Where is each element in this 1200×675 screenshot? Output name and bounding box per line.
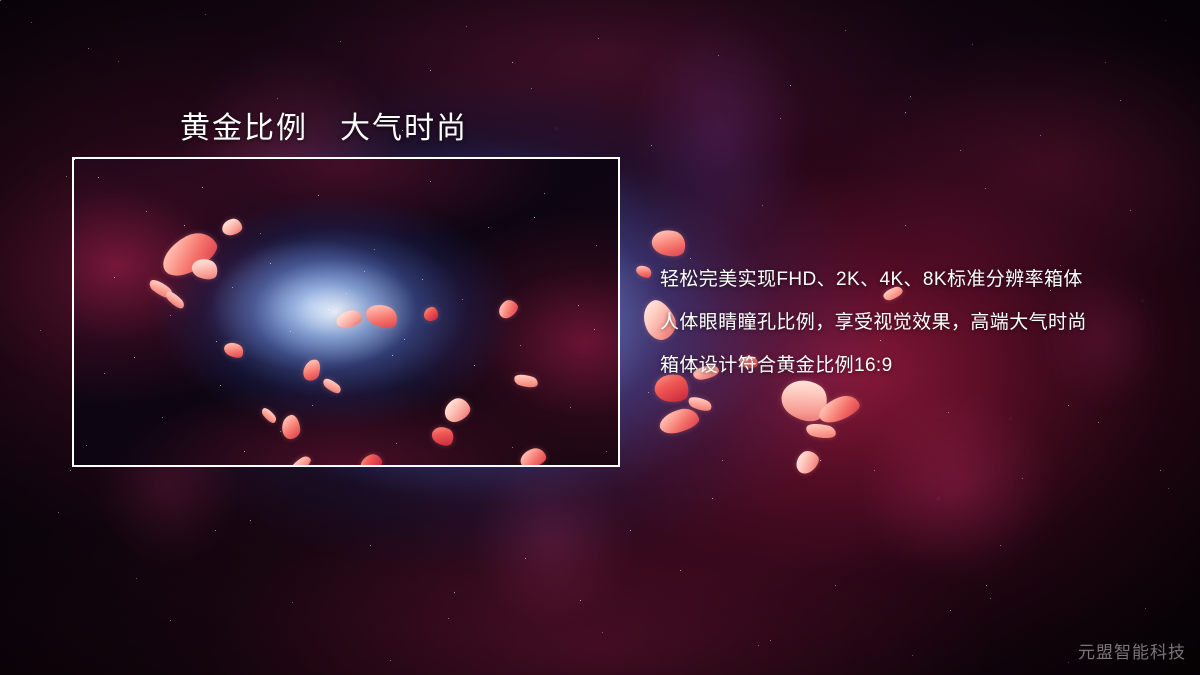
description-line: 箱体设计符合黄金比例16:9 (660, 344, 1160, 387)
image-frame (72, 157, 620, 467)
page-title: 黄金比例 大气时尚 (180, 103, 468, 147)
description-line: 人体眼睛瞳孔比例，享受视觉效果，高端大气时尚 (660, 301, 1160, 344)
description-block: 轻松完美实现FHD、2K、4K、8K标准分辨率箱体 人体眼睛瞳孔比例，享受视觉效… (660, 258, 1160, 387)
watermark: 元盟智能科技 (1078, 638, 1186, 663)
description-line: 轻松完美实现FHD、2K、4K、8K标准分辨率箱体 (660, 258, 1160, 301)
slide-canvas: 黄金比例 大气时尚 轻松完美实现FHD、2K、4K、8K标准分辨率箱体 人体眼睛… (0, 0, 1200, 675)
frame-star-layer-large (74, 159, 75, 160)
frame-nebula-image (74, 159, 618, 465)
